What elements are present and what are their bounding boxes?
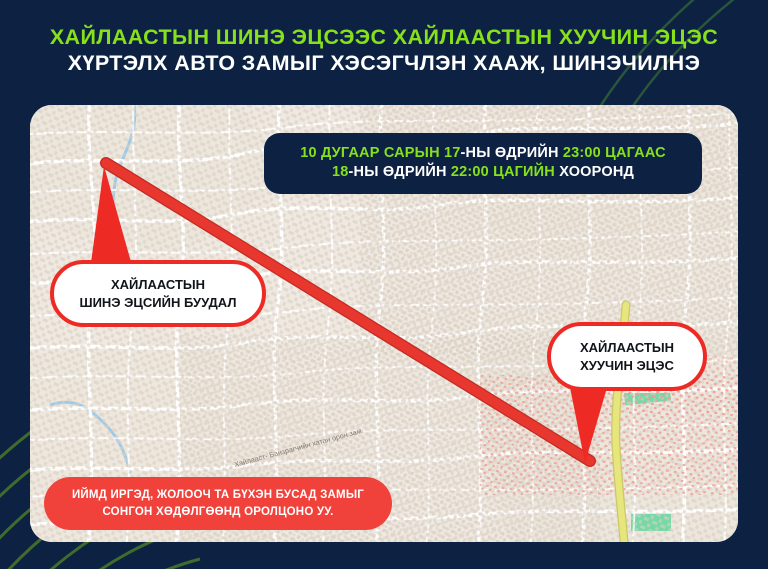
time-suffix-1: -НЫ ӨДРИЙН [461, 145, 563, 161]
callout-start-station[interactable]: ХАЙЛААСТЫН ШИНЭ ЭЦСИЙН БУУДАЛ [50, 260, 266, 327]
time-end-hour: 22:00 ЦАГИЙН [451, 164, 559, 180]
time-suffix-2: -НЫ ӨДРИЙН [349, 164, 451, 180]
headline-line-1: ХАЙЛААСТЫН ШИНЭ ЭЦСЭЭС ХАЙЛААСТЫН ХУУЧИН… [0, 24, 768, 50]
time-window-line-1: 10 ДУГААР САРЫН 17-НЫ ӨДРИЙН 23:00 ЦАГАА… [280, 144, 686, 163]
notice-line-2: СОНГОН ХӨДӨЛГӨӨНД ОРОЛЦОНО УУ. [58, 504, 378, 521]
callout-start-line-2: ШИНЭ ЭЦСИЙН БУУДАЛ [64, 294, 252, 312]
headline-line-2: ХҮРТЭЛХ АВТО ЗАМЫГ ХЭСЭГЧЛЭН ХААЖ, ШИНЭЧ… [0, 50, 768, 76]
time-window-panel: 10 ДУГААР САРЫН 17-НЫ ӨДРИЙН 23:00 ЦАГАА… [264, 133, 702, 194]
public-notice-banner: ИЙМД ИРГЭД, ЖОЛООЧ ТА БҮХЭН БУСАД ЗАМЫГ … [44, 477, 392, 530]
callout-start-line-1: ХАЙЛААСТЫН [64, 276, 252, 294]
notice-line-1: ИЙМД ИРГЭД, ЖОЛООЧ ТА БҮХЭН БУСАД ЗАМЫГ [58, 487, 378, 504]
callout-end-station[interactable]: ХАЙЛААСТЫН ХУУЧИН ЭЦЭС [547, 322, 707, 391]
time-date-end: 18 [332, 164, 349, 180]
headline: ХАЙЛААСТЫН ШИНЭ ЭЦСЭЭС ХАЙЛААСТЫН ХУУЧИН… [0, 24, 768, 76]
poster-root: ХАЙЛААСТЫН ШИНЭ ЭЦСЭЭС ХАЙЛААСТЫН ХУУЧИН… [0, 0, 768, 569]
callout-end-line-2: ХУУЧИН ЭЦЭС [559, 357, 695, 375]
time-window-line-2: 18-НЫ ӨДРИЙН 22:00 ЦАГИЙН ХООРОНД [280, 163, 686, 182]
callout-end-line-1: ХАЙЛААСТЫН [559, 339, 695, 357]
time-between-word: ХООРОНД [559, 164, 634, 180]
time-date-start: 10 ДУГААР САРЫН 17 [300, 145, 460, 161]
time-start-hour: 23:00 ЦАГААС [563, 145, 666, 161]
